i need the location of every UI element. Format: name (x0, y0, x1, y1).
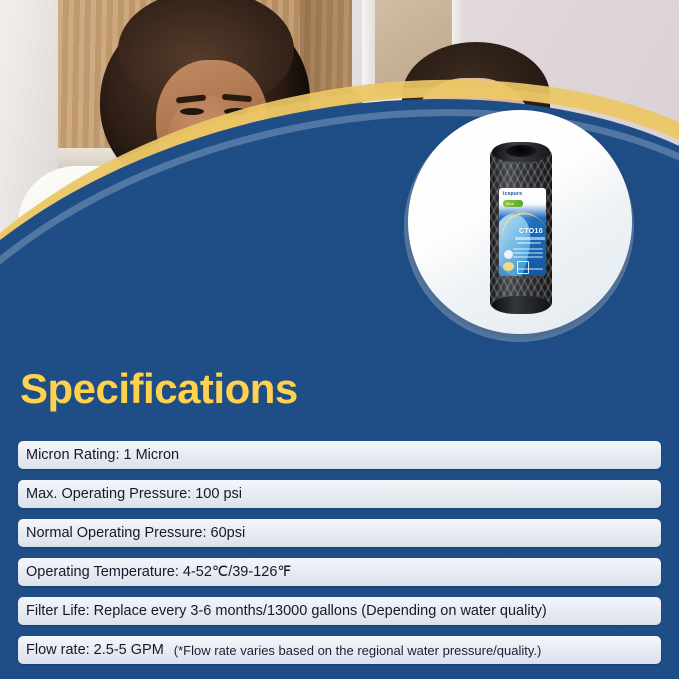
spec-row-label: Normal Operating Pressure: 60psi (18, 525, 245, 541)
spec-row-label: Filter Life: Replace every 3-6 months/13… (18, 603, 547, 619)
cartridge-center-hole (506, 145, 536, 157)
spec-list: Micron Rating: 1 Micron Max. Operating P… (18, 441, 661, 675)
spec-row-label: Micron Rating: 1 Micron (18, 447, 179, 463)
label-green-badge-text: Blue (503, 200, 523, 207)
label-circle-mark (503, 262, 514, 271)
cartridge-bottom-cap (492, 296, 550, 314)
page-title: Specifications (20, 368, 298, 410)
filter-cartridge: icepure Blue CTO10 (490, 140, 552, 316)
label-spec-line-2 (513, 252, 543, 254)
label-certification-badge (504, 250, 513, 259)
spec-row-label: Max. Operating Pressure: 100 psi (18, 486, 242, 502)
label-brand-logo: icepure (503, 191, 522, 197)
spec-row: Filter Life: Replace every 3-6 months/13… (18, 597, 661, 625)
label-green-badge: Blue (503, 200, 523, 207)
label-subtitle-line-2 (517, 242, 541, 244)
spec-row: Operating Temperature: 4-52℃/39-126℉ (18, 558, 661, 586)
spec-row: Flow rate: 2.5-5 GPM (*Flow rate varies … (18, 636, 661, 664)
spec-row-note: (*Flow rate varies based on the regional… (164, 643, 542, 658)
label-model-number: CTO10 (519, 228, 543, 235)
label-footer-line (517, 268, 543, 270)
spec-row-label: Operating Temperature: 4-52℃/39-126℉ (18, 564, 291, 580)
spec-row: Normal Operating Pressure: 60psi (18, 519, 661, 547)
woman-eye-left (180, 108, 204, 115)
cartridge-label: icepure Blue CTO10 (499, 188, 546, 276)
spec-row-label: Flow rate: 2.5-5 GPM (18, 642, 164, 658)
label-subtitle-line-1 (515, 237, 545, 240)
label-spec-line-3 (513, 256, 543, 258)
spec-row: Max. Operating Pressure: 100 psi (18, 480, 661, 508)
product-spec-infographic: icepure Blue CTO10 Specifications Micron… (0, 0, 679, 679)
label-spec-line-1 (513, 248, 543, 250)
spec-row: Micron Rating: 1 Micron (18, 441, 661, 469)
